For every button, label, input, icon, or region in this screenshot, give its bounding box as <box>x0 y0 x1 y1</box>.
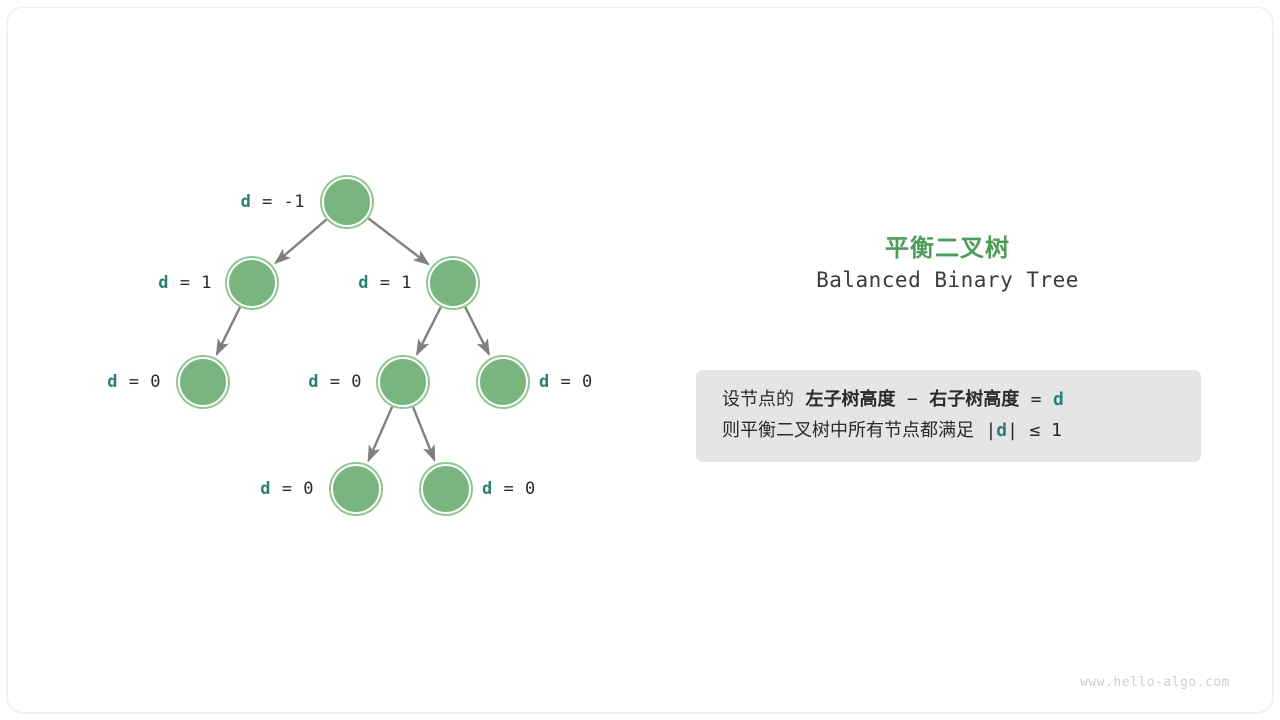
tree-edge <box>413 407 434 460</box>
node-balance-factor-label: d = 0 <box>308 372 362 392</box>
node-balance-factor-label: d = 0 <box>539 372 593 392</box>
tree-node <box>227 258 277 308</box>
definition-line-1: 设节点的 左子树高度 − 右子树高度 = d <box>696 384 1201 415</box>
balance-factor-variable: d <box>107 372 118 392</box>
balance-factor-value: = -1 <box>251 192 305 212</box>
def-d-variable-abs: d <box>996 420 1007 441</box>
def-inequality: ≤ 1 <box>1029 420 1062 441</box>
node-balance-factor-label: d = 1 <box>358 273 412 293</box>
def-minus-sign: − <box>907 389 918 410</box>
node-balance-factor-label: d = -1 <box>241 192 305 212</box>
definition-box: 设节点的 左子树高度 − 右子树高度 = d 则平衡二叉树中所有节点都满足 |d… <box>696 370 1201 462</box>
tree-node <box>428 258 478 308</box>
panel-subtitle: Balanced Binary Tree <box>690 268 1205 292</box>
panel-title: 平衡二叉树 <box>690 228 1205 263</box>
balance-factor-value: = 1 <box>369 273 412 293</box>
tree-edges <box>0 0 680 720</box>
balance-factor-variable: d <box>241 192 252 212</box>
balance-factor-variable: d <box>260 479 271 499</box>
tree-node <box>322 177 372 227</box>
definition-line-2: 则平衡二叉树中所有节点都满足 |d| ≤ 1 <box>696 415 1201 446</box>
def-right-height: 右子树高度 <box>929 389 1019 410</box>
diagram-canvas: d = -1d = 1d = 1d = 0d = 0d = 0d = 0d = … <box>0 0 1280 720</box>
balance-factor-variable: d <box>308 372 319 392</box>
def-d-variable: d <box>1053 389 1064 410</box>
balance-factor-variable: d <box>482 479 493 499</box>
balance-factor-value: = 0 <box>493 479 536 499</box>
tree-node <box>421 464 471 514</box>
def-condition-text: 则平衡二叉树中所有节点都满足 <box>722 420 974 441</box>
def-abs-bar-open: | <box>985 420 996 441</box>
balance-factor-value: = 0 <box>271 479 314 499</box>
balance-factor-variable: d <box>158 273 169 293</box>
tree-node <box>331 464 381 514</box>
balance-factor-value: = 0 <box>319 372 362 392</box>
node-balance-factor-label: d = 0 <box>482 479 536 499</box>
tree-edge <box>465 307 489 354</box>
node-balance-factor-label: d = 0 <box>107 372 161 392</box>
tree-edge <box>217 307 240 354</box>
binary-tree-diagram: d = -1d = 1d = 1d = 0d = 0d = 0d = 0d = … <box>0 0 680 720</box>
def-abs-bar-close: | <box>1007 420 1018 441</box>
balance-factor-value: = 0 <box>550 372 593 392</box>
tree-edge <box>276 220 327 263</box>
balance-factor-variable: d <box>539 372 550 392</box>
info-panel: 平衡二叉树 Balanced Binary Tree 设节点的 左子树高度 − … <box>690 0 1220 720</box>
tree-node <box>478 357 528 407</box>
balance-factor-variable: d <box>358 273 369 293</box>
balance-factor-value: = 1 <box>169 273 212 293</box>
tree-node <box>178 357 228 407</box>
tree-edge <box>368 218 428 264</box>
tree-edge <box>417 307 441 354</box>
node-balance-factor-label: d = 0 <box>260 479 314 499</box>
def-left-height: 左子树高度 <box>805 389 895 410</box>
tree-node <box>378 357 428 407</box>
tree-edge <box>368 407 392 461</box>
def-equals-sign: = <box>1031 389 1042 410</box>
watermark: www.hello-algo.com <box>1080 675 1230 690</box>
def-text-prefix: 设节点的 <box>722 389 794 410</box>
node-balance-factor-label: d = 1 <box>158 273 212 293</box>
balance-factor-value: = 0 <box>118 372 161 392</box>
